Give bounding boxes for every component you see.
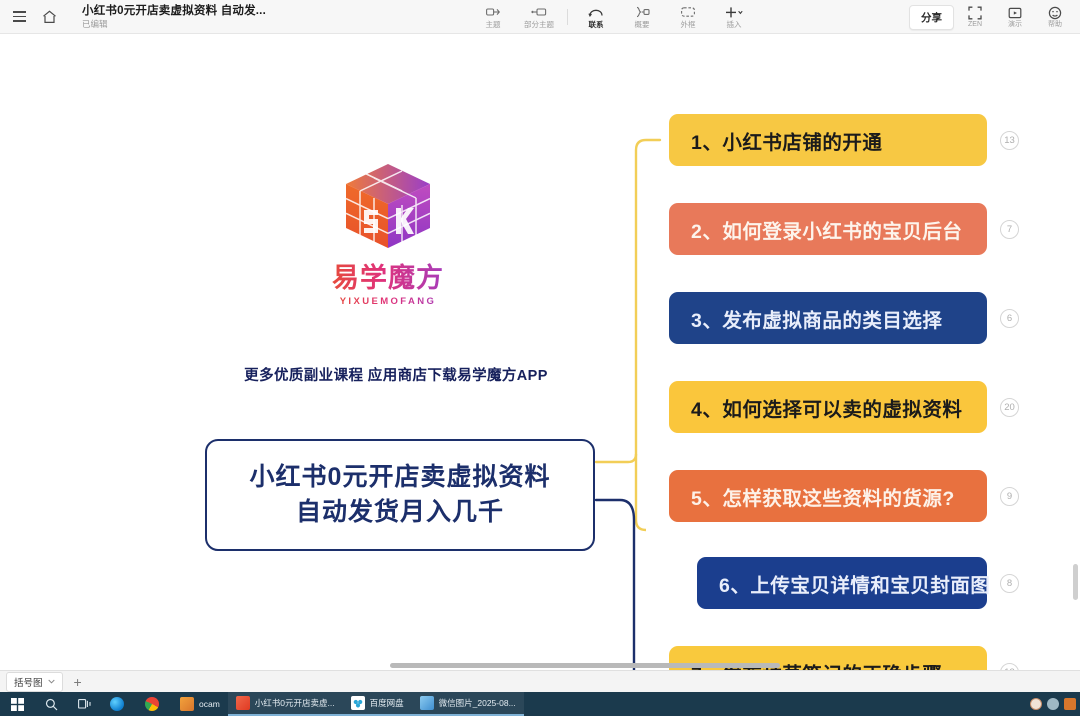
presentation-label: 演示 [1008,21,1022,29]
zen-label: ZEN [968,21,982,29]
subtopic-icon [531,6,547,19]
ocam-icon [180,697,194,711]
taskbar-app-baidu-netdisk[interactable]: 百度网盘 [343,692,412,716]
relation-arc-icon [588,6,604,19]
mindmap-app-icon [236,696,250,710]
home-icon[interactable] [34,0,64,34]
zen-fullscreen-icon [968,6,982,20]
taskbar-app-mindmap[interactable]: 小红书0元开店卖虚... [228,692,343,716]
topic-label: 5、怎样获取这些资料的货源? [691,482,955,511]
taskbar-app-label: 百度网盘 [370,697,404,709]
toolbar-item-relation[interactable]: 联系 [573,0,619,34]
taskbar-app-label: 微信图片_2025-08... [439,697,516,709]
smiley-help-icon [1048,6,1062,20]
root-node-line-2: 自动发货月入几千 [296,495,504,530]
topic-node-2[interactable]: 2、如何登录小红书的宝贝后台 [669,203,987,255]
image-viewer-icon [420,696,434,710]
topic-label: 3、发布虚拟商品的类目选择 [691,304,942,333]
summary-bracket-icon [634,6,650,19]
help-button[interactable]: 帮助 [1036,0,1074,34]
chevron-down-icon[interactable] [48,676,55,687]
topic-label: 1、小红书店铺的开通 [691,126,882,155]
menu-hamburger-icon[interactable] [4,0,34,34]
sheet-tab-bar: 括号图 + [0,670,1080,692]
windows-taskbar: ocam 小红书0元开店卖虚... 百度网盘 微信图片_2025-08... [0,692,1080,716]
toolbar-center-group: 主题 部分主题 联系 [470,0,757,34]
topic-node-4[interactable]: 4、如何选择可以卖的虚拟资料 [669,381,987,433]
root-node-line-1: 小红书0元开店卖虚拟资料 [250,460,551,495]
topic-badge-2[interactable]: 7 [1000,220,1019,239]
topic-node-5[interactable]: 5、怎样获取这些资料的货源? [669,470,987,522]
taskbar-app-ocam[interactable]: ocam [172,692,228,716]
zen-mode-button[interactable]: ZEN [956,0,994,34]
taskbar-app-edge[interactable] [102,692,137,716]
system-tray [1030,692,1076,716]
sheet-tab-label: 括号图 [14,675,43,689]
rubiks-cube-logo-icon [342,162,434,252]
topic-badge-5[interactable]: 9 [1000,487,1019,506]
document-title[interactable]: 小红书0元开店卖虚拟资料 自动发... [82,4,266,18]
topic-badge-4[interactable]: 20 [1000,398,1019,417]
topic-node-1[interactable]: 1、小红书店铺的开通 [669,114,987,166]
topic-node-3[interactable]: 3、发布虚拟商品的类目选择 [669,292,987,344]
taskbar-app-image-viewer[interactable]: 微信图片_2025-08... [412,692,524,716]
task-view-button[interactable] [68,692,102,716]
brand-logo: 易学魔方 YIXUEMOFANG [318,162,458,307]
topic-badge-3[interactable]: 6 [1000,309,1019,328]
tray-folder-icon[interactable] [1064,698,1076,710]
toolbar-item-topic[interactable]: 主题 [470,0,516,34]
chrome-browser-icon [145,697,159,711]
app-toolbar: 小红书0元开店卖虚拟资料 自动发... 已编辑 主题 [0,0,1080,34]
toolbar-label: 部分主题 [524,20,554,29]
topic-label: 6、上传宝贝详情和宝贝封面图 [719,569,990,598]
toolbar-label: 外框 [681,20,696,29]
toolbar-label: 联系 [589,20,604,29]
search-button[interactable] [34,692,68,716]
toolbar-item-subtopic[interactable]: 部分主题 [516,0,562,34]
start-button[interactable] [0,692,34,716]
help-label: 帮助 [1048,21,1062,29]
presentation-button[interactable]: 演示 [996,0,1034,34]
vertical-scrollbar[interactable] [1073,564,1078,600]
tray-circle-icon[interactable] [1030,698,1042,710]
edge-browser-icon [110,697,124,711]
plus-insert-icon [724,6,744,19]
taskbar-app-label: ocam [199,699,220,709]
toolbar-item-summary[interactable]: 概要 [619,0,665,34]
save-status: 已编辑 [82,19,266,30]
topic-label: 4、如何选择可以卖的虚拟资料 [691,393,962,422]
toolbar-right-group: 分享 ZEN 演示 [909,0,1074,34]
topic-badge-6[interactable]: 8 [1000,574,1019,593]
topic-icon [486,6,500,19]
boundary-frame-icon [680,6,696,19]
add-sheet-button[interactable]: + [67,675,89,689]
mindmap-application: 小红书0元开店卖虚拟资料 自动发... 已编辑 主题 [0,0,1080,716]
presentation-play-icon [1008,6,1022,20]
toolbar-item-boundary[interactable]: 外框 [665,0,711,34]
taskbar-app-label: 小红书0元开店卖虚... [255,697,335,709]
topic-node-6[interactable]: 6、上传宝贝详情和宝贝封面图 [697,557,987,609]
toolbar-item-insert[interactable]: 插入 [711,0,757,34]
toolbar-label: 概要 [635,20,650,29]
promo-text: 更多优质副业课程 应用商店下载易学魔方APP [186,364,606,385]
toolbar-label: 主题 [486,20,501,29]
toolbar-divider [567,9,568,25]
logo-english-name: YIXUEMOFANG [318,296,458,307]
horizontal-scrollbar[interactable] [390,663,780,668]
document-meta: 小红书0元开店卖虚拟资料 自动发... 已编辑 [82,0,266,34]
topic-label: 2、如何登录小红书的宝贝后台 [691,215,962,244]
topic-badge-1[interactable]: 13 [1000,131,1019,150]
share-button[interactable]: 分享 [909,5,954,30]
tray-gear-icon[interactable] [1047,698,1059,710]
mindmap-canvas[interactable]: 易学魔方 YIXUEMOFANG 更多优质副业课程 应用商店下载易学魔方APP … [0,34,1080,682]
toolbar-label: 插入 [727,20,742,29]
taskbar-app-chrome[interactable] [137,692,172,716]
root-node[interactable]: 小红书0元开店卖虚拟资料 自动发货月入几千 [205,439,595,551]
baidu-netdisk-icon [351,696,365,710]
sheet-tab-current[interactable]: 括号图 [6,672,63,692]
logo-chinese-name: 易学魔方 [318,256,458,295]
